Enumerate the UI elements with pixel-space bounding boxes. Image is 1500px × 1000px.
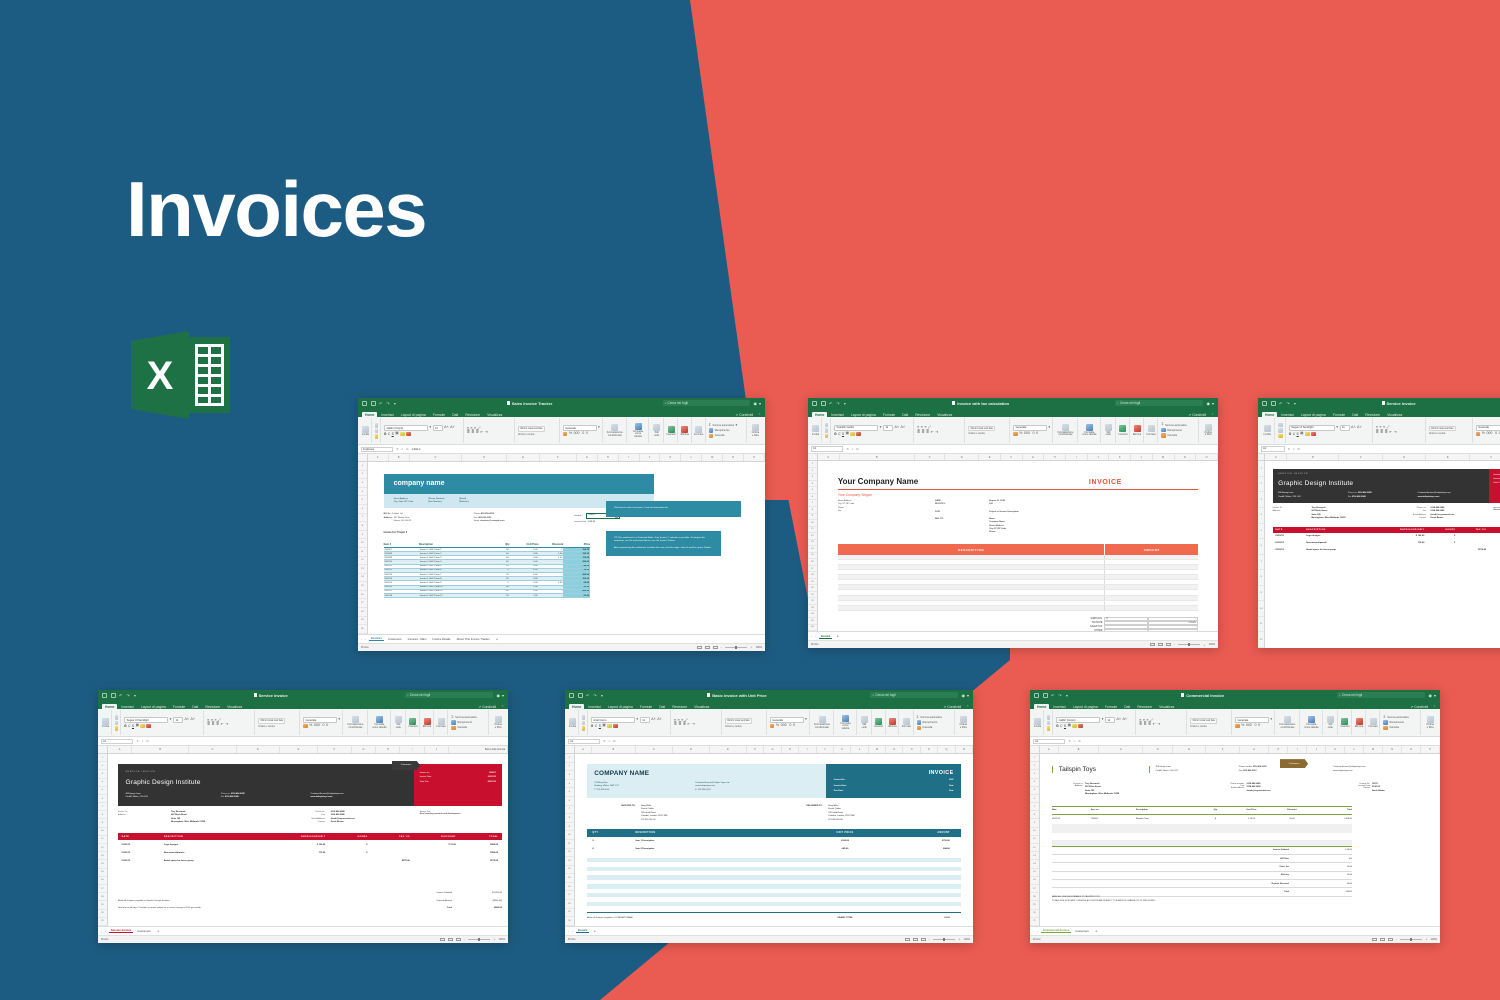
table-row[interactable]: 01/01/13New artwork/panels175.002$350.00 [118, 849, 502, 857]
column-M[interactable]: M [869, 746, 886, 753]
paste-button[interactable]: Incolla [569, 718, 576, 729]
page-layout-icon[interactable] [913, 938, 918, 942]
delete-cells-button-2[interactable]: Elimina [681, 426, 688, 437]
autosum-button[interactable]: Σ Somma automatica [1383, 716, 1418, 720]
sort-filter-button[interactable]: Ordina e filtra [1424, 716, 1436, 729]
insert-cells-button[interactable]: Inserisci [875, 718, 883, 729]
ribbon-group-clipboard[interactable]: Incolla [100, 710, 112, 735]
font-color-icon[interactable] [856, 432, 861, 437]
percent-icon[interactable]: % [1482, 432, 1485, 436]
ribbon-group-format[interactable]: Formato [1367, 710, 1380, 735]
window-service-invoice-bottom[interactable]: ↶ ↷ ▾ Service invoice ⌕ Cerca nei fogli … [98, 690, 508, 943]
column-A[interactable]: A [1265, 454, 1287, 461]
table-body[interactable]: INV007Invoice 1-004-2 Item 1305.001150.0… [384, 548, 591, 598]
comma-icon[interactable]: 000 [1024, 432, 1030, 436]
decrease-decimal-icon[interactable]: 0˙ [326, 724, 329, 728]
clear-button[interactable]: Cancella [1383, 726, 1418, 731]
number-format-select[interactable]: Generale [1235, 717, 1269, 723]
ribbon-group-number[interactable]: Generale ▾ % 000 ˙0 0˙ [1233, 710, 1275, 735]
worksheet-commercial-invoice[interactable]: Tailspin Toys 456 Emmy Lane Cardiff, Wal… [1040, 754, 1440, 926]
formula-bar-buttons[interactable]: ✕ ✓ fx [846, 447, 858, 451]
column-O[interactable]: O [744, 454, 765, 461]
ribbon-group-number[interactable]: Generale ▾ % 000 ˙0 0˙ [768, 710, 810, 735]
ribbon-group-clipboard-small[interactable] [580, 710, 588, 735]
undo-icon[interactable]: ↶ [586, 693, 590, 698]
formula-bar-buttons[interactable]: ✕ ✓ fx [603, 739, 615, 743]
row-header[interactable]: 12 [98, 844, 107, 852]
column-G[interactable]: G [764, 746, 781, 753]
row-header[interactable]: 15 [98, 869, 107, 877]
ribbon-group-clipboard[interactable]: Incolla [567, 710, 579, 735]
table-body[interactable]: 01/01/13Logo designs$ 100.005$ 75.00$425… [108, 840, 508, 865]
chevron-down-icon[interactable]: ▾ [598, 426, 600, 430]
ribbon-group-alignment[interactable]: ≡ ≡ ≡ ⤢ ≣ ≣ ≣ ⇤ ⇥ [915, 418, 965, 443]
row-header[interactable]: 1 [565, 754, 574, 763]
number-format-row[interactable]: Generale ▾ [1476, 425, 1500, 431]
row-header[interactable]: 3 [358, 479, 367, 488]
increase-decimal-icon[interactable]: ˙0 [788, 724, 791, 728]
window-controls[interactable]: ◉ ▾ [1428, 693, 1436, 698]
ribbon-group-alignment[interactable]: ≡ ≡ ≡ ⤢ ≣ ≣ ≣ ⇤ ⇥ [465, 418, 515, 443]
percent-icon[interactable]: % [309, 724, 312, 728]
increase-decimal-icon[interactable]: ˙0 [1494, 432, 1497, 436]
delete-cells-button[interactable]: Elimina [889, 718, 897, 729]
clear-button[interactable]: Cancella [709, 434, 744, 439]
format-as-table-button[interactable]: Formatta come tabella [1081, 424, 1098, 437]
cell-styles-button[interactable]: Stili celle [1326, 716, 1335, 729]
undo-icon[interactable]: ↶ [1279, 401, 1283, 406]
sheet-tab-bar[interactable]: ‹ › Invoices Customers Invoices - Main I… [358, 634, 765, 643]
ribbon[interactable]: Incolla Franklin Gothic ▾ 11 A˄ A˅ G C S… [808, 417, 1218, 445]
column-I[interactable]: I [400, 746, 424, 753]
column-F[interactable]: F [1470, 454, 1500, 461]
increase-decimal-icon[interactable]: ˙0 [1253, 724, 1256, 728]
row-header[interactable]: 17 [565, 891, 574, 900]
align-row-2[interactable]: ≣ ≣ ≣ ⇤ ⇥ [1376, 431, 1423, 435]
comma-icon[interactable]: 000 [1246, 724, 1252, 728]
align-left-icon[interactable]: ≣ [1139, 723, 1142, 727]
format-cells-button[interactable]: Formato [902, 718, 910, 729]
grid[interactable]: 1 2 3 4 5 6 7 8 9 10 11 12 13 14 15 16 1… [358, 462, 765, 634]
sheet-tab-service-invoice[interactable]: Service invoice [109, 928, 133, 933]
ribbon-group-number[interactable]: Generale ▾ % 000 ˙0 0˙ [1474, 418, 1500, 443]
line-items-table[interactable]: Item # Description Qty Unit Price Discou… [384, 543, 591, 598]
row-header[interactable]: 21 [98, 918, 107, 926]
cancel-icon[interactable]: ✕ [603, 739, 606, 743]
column-H[interactable]: H [376, 746, 400, 753]
merge-cells-button[interactable]: Unisci e centra [725, 725, 764, 728]
enter-icon[interactable]: ✓ [1293, 447, 1296, 451]
row-header[interactable]: 6 [1258, 539, 1264, 555]
column-O[interactable]: O [903, 746, 920, 753]
italic-icon[interactable]: C [1293, 432, 1295, 436]
column-F[interactable]: F [1206, 746, 1239, 753]
column-F[interactable]: F [540, 454, 577, 461]
row-header[interactable]: 8 [98, 811, 107, 819]
row-header[interactable]: 10 [1030, 828, 1039, 836]
ribbon-group-font[interactable]: Arial Corpo ▾ 11 A˄ A˅ G C S ▦ [589, 710, 671, 735]
percent-icon[interactable]: % [1019, 432, 1022, 436]
number-format-select[interactable]: Generale [1476, 425, 1500, 431]
column-P[interactable]: P [921, 746, 938, 753]
increase-decimal-icon[interactable]: ˙0 [1031, 432, 1034, 436]
clear-button[interactable]: Cancella [917, 726, 952, 731]
row-header[interactable]: 19 [98, 901, 107, 909]
table-row[interactable]: 01/01/13New artwork/panels175.002$350.00 [1273, 540, 1500, 547]
search-input[interactable]: ⌕ Cerca nei fogli [663, 400, 751, 406]
align-left-icon[interactable]: ≣ [674, 723, 677, 727]
chevron-down-icon[interactable]: ▾ [759, 401, 761, 406]
borders-icon[interactable]: ▦ [846, 432, 849, 436]
chevron-down-icon[interactable]: ▾ [170, 718, 172, 722]
font-color-icon[interactable] [146, 724, 151, 729]
conditional-formatting-button[interactable]: Formattazione condizionale [606, 424, 624, 437]
wrap-text-button[interactable]: Dimmi cosa vuoi fare [1429, 426, 1470, 432]
row-header[interactable]: 13 [98, 852, 107, 860]
row-header[interactable]: 1 [1030, 754, 1039, 762]
format-painter-button[interactable] [115, 726, 118, 731]
row-headers[interactable]: 1234567891011121314151617181920 [565, 754, 575, 926]
merge-cells-button[interactable]: Unisci e centra [1190, 725, 1229, 728]
number-format-row[interactable]: Generale ▾ [770, 717, 807, 723]
align-left-icon[interactable]: ≣ [467, 431, 470, 435]
undo-icon[interactable]: ↶ [379, 401, 383, 406]
sheet-nav-icons[interactable]: ‹ › [568, 929, 574, 933]
table-row[interactable]: 01/01/13Aerial space for focus group$275… [1273, 546, 1500, 553]
row-header[interactable]: 6 [358, 505, 367, 514]
italic-icon[interactable]: C [838, 432, 840, 436]
function-icon[interactable]: fx [1078, 739, 1080, 743]
customize-qat-icon[interactable]: ▾ [844, 401, 847, 406]
decrease-font-icon[interactable]: A˅ [190, 718, 195, 722]
copy-button[interactable] [1047, 721, 1050, 726]
formula-bar-toggle-label[interactable]: Barra della formula [449, 746, 508, 753]
page-layout-icon[interactable] [705, 646, 710, 650]
grid[interactable]: 123456789101112131415161718192021 SERVIC… [98, 754, 508, 926]
comma-icon[interactable]: 000 [1486, 432, 1492, 436]
merge-cells-button[interactable]: Unisci e centra [518, 433, 557, 436]
comma-icon[interactable]: 000 [781, 724, 787, 728]
customize-qat-icon[interactable]: ▾ [394, 401, 397, 406]
name-box[interactable]: A1 [101, 739, 133, 745]
formula-bar[interactable]: A1 ✕ ✓ fx [1030, 737, 1440, 746]
bold-icon[interactable]: G [1056, 724, 1058, 728]
autosave-icon[interactable] [1262, 401, 1267, 406]
row-header[interactable]: 3 [1258, 492, 1264, 508]
row-headers[interactable]: 1 2 3 4 5 6 7 8 9 10 11 12 13 14 15 16 1… [358, 462, 368, 634]
chevron-down-icon[interactable]: ▾ [1434, 693, 1436, 698]
row-headers[interactable]: 123456789101112131415161718192021 [1030, 754, 1040, 926]
format-as-table-button[interactable]: Formatta come tabella [837, 715, 854, 731]
zoom-slider[interactable] [1400, 939, 1422, 940]
format-painter-button[interactable] [582, 726, 585, 731]
normal-view-icon[interactable] [1150, 643, 1155, 647]
cut-button[interactable] [1278, 423, 1283, 428]
table-row[interactable] [838, 606, 1198, 611]
customers-tag-button[interactable]: Customers [1280, 759, 1308, 768]
column-K[interactable]: K [1326, 746, 1345, 753]
align-left-icon[interactable]: ≣ [207, 723, 210, 727]
fill-button[interactable]: Riempimento [451, 720, 486, 725]
zoom-in-icon[interactable]: ＋ [1425, 937, 1428, 941]
decrease-indent-icon[interactable]: ⇤ [687, 723, 690, 727]
enter-icon[interactable]: ✓ [851, 447, 854, 451]
column-K[interactable]: K [660, 454, 681, 461]
font-color-icon[interactable] [1311, 432, 1316, 437]
decrease-indent-icon[interactable]: ⇤ [1153, 723, 1156, 727]
formula-bar[interactable]: A1 ✕ ✓ fx [808, 445, 1218, 454]
row-header[interactable]: 15 [358, 582, 367, 591]
autosave-icon[interactable] [569, 693, 574, 698]
status-right[interactable]: − ＋ 100% [1150, 643, 1215, 647]
ribbon-group-clipboard-small[interactable] [113, 710, 121, 735]
ribbon-group-clipboard[interactable]: Incolla [1032, 710, 1044, 735]
column-E[interactable]: E [1426, 454, 1470, 461]
quick-access-toolbar[interactable]: ↶ ↷ ▾ [569, 693, 603, 698]
cell-styles-button[interactable]: Stili celle [652, 424, 661, 437]
bold-icon[interactable]: G [591, 724, 593, 728]
quick-access-toolbar[interactable]: ↶ ↷ ▾ [812, 401, 846, 406]
save-icon[interactable] [371, 401, 376, 406]
column-R[interactable]: R [956, 746, 973, 753]
row-header[interactable]: 26 [808, 625, 817, 631]
font-color-icon[interactable] [406, 432, 411, 437]
format-as-table-button[interactable]: Formatta come tabella [1303, 716, 1320, 729]
zoom-level[interactable]: 100% [756, 646, 762, 649]
ribbon-group-clipboard-small[interactable] [1276, 418, 1286, 443]
wrap-text-button[interactable]: Dimmi cosa vuoi fare [518, 426, 557, 432]
font-row[interactable]: Franklin Gothic ▾ 11 A˄ A˅ [834, 425, 911, 431]
column-E[interactable]: E [1173, 746, 1206, 753]
column-B[interactable]: B [592, 746, 636, 753]
page-break-icon[interactable] [713, 646, 718, 650]
save-icon[interactable] [1043, 693, 1048, 698]
sort-filter-button[interactable]: Ordina e filtra [1202, 424, 1214, 437]
status-right[interactable]: − ＋ 100% [697, 645, 762, 649]
column-headers[interactable]: ABCDEFGHIJKLMNOPQR [565, 746, 973, 754]
number-buttons-row[interactable]: % 000 ˙0 0˙ [1476, 432, 1500, 437]
ribbon-group-styles[interactable]: Formattazione condizionale [1054, 418, 1078, 443]
row-header[interactable]: 10 [565, 831, 574, 840]
ribbon-group-editing[interactable]: Σ Somma automatica Riempimento Cancella [915, 710, 955, 735]
borders-icon[interactable]: ▦ [1300, 432, 1303, 436]
zoom-in-icon[interactable]: ＋ [493, 937, 496, 941]
autosave-icon[interactable] [812, 401, 817, 406]
column-D[interactable]: D [1383, 454, 1427, 461]
font-size-select[interactable]: 11 [433, 425, 443, 431]
quick-access-toolbar[interactable]: ↶ ↷ ▾ [362, 401, 396, 406]
ribbon-tabs[interactable]: Home Inserisci Layout di pagina Formule … [565, 701, 973, 710]
sheet-tab-customers[interactable]: Customers [386, 637, 404, 641]
conditional-formatting-button[interactable]: Formattazione condizionale [1056, 424, 1075, 437]
align-left-icon[interactable]: ≣ [1376, 431, 1379, 435]
column-O[interactable]: O [1196, 454, 1218, 461]
wrap-text-label[interactable]: Dimmi cosa vuoi fare [1190, 718, 1217, 724]
cut-button[interactable] [1047, 715, 1050, 720]
ribbon-group-editing[interactable]: Σ Somma automatica ▾ Riempimento Cancell… [707, 418, 747, 443]
sheet-tab-about[interactable]: About This Invoice Tracker [455, 637, 492, 641]
format-cells-button[interactable]: Formato [1147, 425, 1155, 436]
column-N[interactable]: N [1175, 454, 1197, 461]
column-J[interactable]: J [817, 746, 834, 753]
column-headers[interactable]: A B C D E F G H I J K L M N O [808, 454, 1218, 462]
ribbon-group-wrap[interactable]: Dimmi cosa vuoi fare Unisci e centra [1427, 418, 1473, 443]
formula-bar-buttons[interactable]: ✕ ✓ fx [1068, 739, 1080, 743]
formula-bar[interactable]: A1 ✕ ✓ fx [565, 737, 973, 746]
conditional-formatting-button[interactable]: Formattazione condizionale [1278, 716, 1297, 729]
font-name-select[interactable]: Arial Corpo [591, 717, 635, 723]
status-right[interactable]: − ＋ 100% [905, 937, 970, 941]
sort-filter-button[interactable]: Ordina e filtra [958, 716, 969, 729]
row-headers[interactable]: 123456789101112 [1258, 461, 1265, 648]
column-B[interactable]: B [840, 454, 916, 461]
grid[interactable]: 1234567891011121314151617181920 COMPANY … [565, 754, 973, 926]
number-format-select[interactable]: Generale [1013, 425, 1047, 431]
account-icon[interactable]: ◉ [1428, 693, 1432, 698]
column-G[interactable]: G [577, 454, 598, 461]
row-header[interactable]: 19 [565, 909, 574, 918]
ribbon-group-sort[interactable]: Ordina e filtra [748, 418, 763, 443]
window-commercial-invoice[interactable]: ↶ ↷ ▾ Commercial Invoice ⌕ Cerca nei fog… [1030, 690, 1440, 943]
row-header[interactable]: 7 [565, 806, 574, 815]
format-as-table-button[interactable]: Formatta come tabella [371, 716, 388, 729]
fill-color-icon[interactable] [850, 432, 855, 437]
row-header[interactable]: 3 [565, 771, 574, 780]
cancel-icon[interactable]: ✕ [396, 447, 399, 451]
sheet-tab-invoice[interactable]: Invoice [576, 928, 590, 933]
copy-button[interactable] [582, 721, 585, 726]
row-headers[interactable]: 123456789101112131415161718192021 [98, 754, 108, 926]
column-D[interactable]: D [237, 746, 280, 753]
column-E[interactable]: E [979, 454, 1001, 461]
row-header[interactable]: 9 [98, 819, 107, 827]
underline-icon[interactable]: S [1064, 724, 1066, 728]
fill-button[interactable]: Riempimento [1383, 720, 1418, 725]
font-row[interactable]: Segoe UI Semilight ▾ 11 A˄ A˅ [1289, 425, 1370, 431]
currency-icon[interactable] [1476, 432, 1481, 437]
increase-font-icon[interactable]: A˄ [1351, 426, 1356, 430]
number-format-select[interactable]: Generale [563, 425, 597, 431]
cancel-icon[interactable]: ✕ [136, 739, 139, 743]
sheet-tab-bar[interactable]: ‹ › Invoice ＋ [808, 631, 1218, 640]
column-A[interactable]: A [368, 454, 389, 461]
ribbon-group-alignment[interactable]: ≡ ≡ ≡ ⤢ ≣ ≣ ≣ ⇤ ⇥ [1137, 710, 1187, 735]
chevron-down-icon[interactable]: ▾ [1212, 401, 1214, 406]
page-break-icon[interactable] [921, 938, 926, 942]
ribbon-group-clipboard-small[interactable] [823, 418, 831, 443]
delete-cells-button[interactable]: Elimina [1355, 718, 1363, 729]
ribbon-tabs[interactable]: Home Inserisci Layout di pagina Formule … [1030, 701, 1440, 710]
ribbon-group-font[interactable]: Calibri (Corpo) ▾ 11 A˄ A˅ G C S ▦ [382, 418, 464, 443]
column-D[interactable]: D [673, 746, 710, 753]
ribbon-group-cells[interactable]: Inserisci [665, 418, 678, 443]
column-I[interactable]: I [619, 454, 640, 461]
ribbon-group-sort[interactable]: Ordina e filtra [956, 710, 971, 735]
underline-icon[interactable]: S [392, 432, 394, 436]
row-header[interactable]: 2 [1030, 762, 1039, 770]
customize-qat-icon[interactable]: ▾ [134, 693, 137, 698]
decrease-font-icon[interactable]: A˅ [1357, 426, 1362, 430]
table-row[interactable]: 8Item 2 Description£45.00£84.00 [587, 845, 961, 853]
font-name-select[interactable]: Calibri (Corpo) [384, 425, 428, 431]
row-header[interactable]: 6 [565, 797, 574, 806]
table-body[interactable]: 9Item 1 Description£180.00£750.008Item 2… [575, 837, 973, 906]
column-L[interactable]: L [1345, 746, 1364, 753]
blank-row-shaded[interactable] [587, 902, 961, 906]
column-G[interactable]: G [1023, 454, 1045, 461]
function-icon[interactable]: fx [1298, 447, 1300, 451]
row-header[interactable]: 12 [1030, 844, 1039, 852]
row-header[interactable]: 20 [358, 625, 367, 634]
name-box[interactable]: A1 [568, 739, 600, 745]
row-header[interactable]: 12 [1258, 632, 1264, 648]
row-header[interactable]: 14 [1030, 860, 1039, 868]
column-N[interactable]: N [886, 746, 903, 753]
column-L[interactable]: L [681, 454, 702, 461]
font-style-row[interactable]: G C S ▦ [591, 724, 668, 729]
zoom-slider[interactable] [1178, 644, 1200, 645]
chevron-down-icon[interactable]: ▾ [1270, 718, 1272, 722]
ribbon-group-wrap[interactable]: Dimmi cosa vuoi fare Unisci e centra [966, 418, 1010, 443]
column-headers[interactable]: A B C D E F G H I J K L M N O [358, 454, 765, 462]
sheet-tab-bar[interactable]: ‹ › Service invoice Customers ＋ [98, 926, 508, 935]
row-header[interactable]: 3 [98, 770, 107, 778]
select-all-corner[interactable] [808, 454, 818, 461]
bold-icon[interactable]: G [1289, 432, 1291, 436]
chevron-down-icon[interactable]: ▾ [880, 426, 882, 430]
font-style-row[interactable]: G C S ▦ [384, 432, 461, 437]
name-box[interactable]: Fogliosca [361, 447, 393, 453]
quick-access-toolbar[interactable]: ↶ ↷ ▾ [1262, 401, 1296, 406]
ribbon-group-alignment[interactable]: ≡ ≡ ≡ ⤢ ≣ ≣ ≣ ⇤ ⇥ [1374, 418, 1426, 443]
sheet-tab-invoice-details[interactable]: Invoice Details [430, 637, 452, 641]
bold-icon[interactable]: G [124, 724, 126, 728]
column-F[interactable]: F [1001, 454, 1023, 461]
format-painter-button[interactable] [1278, 434, 1283, 439]
insert-cells-button[interactable]: Inserisci [1119, 425, 1127, 436]
undo-icon[interactable]: ↶ [829, 401, 833, 406]
underline-icon[interactable]: S [599, 724, 601, 728]
row-header[interactable]: 9 [1258, 586, 1264, 602]
font-name-select[interactable]: Calibri (Corpo) [1056, 717, 1100, 723]
format-painter-button[interactable] [1047, 726, 1050, 731]
wrap-text-button[interactable]: Dimmi cosa vuoi fare [968, 426, 1007, 432]
redo-icon[interactable]: ↷ [836, 401, 840, 406]
ribbon-group-alignment[interactable]: ≡ ≡ ≡ ⤢ ≣ ≣ ≣ ⇤ ⇥ [205, 710, 255, 735]
copy-button[interactable] [115, 721, 118, 726]
row-header[interactable]: 20 [98, 910, 107, 918]
ribbon-group-cell-styles[interactable]: Stili celle [1324, 710, 1338, 735]
row-header[interactable]: 4 [358, 488, 367, 497]
enter-icon[interactable]: ✓ [401, 447, 404, 451]
ribbon-group-font[interactable]: Franklin Gothic ▾ 11 A˄ A˅ G C S ▦ [832, 418, 914, 443]
number-buttons-row[interactable]: % 000 ˙0 0˙ [563, 432, 600, 437]
conditional-formatting-button[interactable]: Formattazione condizionale [346, 716, 365, 729]
copy-button[interactable] [1278, 428, 1283, 433]
column-I[interactable]: I [1066, 454, 1088, 461]
chevron-down-icon[interactable]: ▾ [967, 693, 969, 698]
window-controls[interactable]: ◉ ▾ [961, 693, 969, 698]
wrap-text-button[interactable]: Dimmi cosa vuoi fare [258, 718, 297, 724]
column-J[interactable]: J [425, 746, 449, 753]
font-size-select[interactable]: 11 [1105, 717, 1115, 723]
grid[interactable]: 123456789101112 SERVICE INVOICE Graphic … [1258, 461, 1500, 648]
increase-indent-icon[interactable]: ⇥ [1394, 431, 1397, 435]
wrap-text-label[interactable]: Dimmi cosa vuoi fare [1429, 426, 1456, 432]
chevron-down-icon[interactable]: ▾ [429, 426, 431, 430]
column-D[interactable]: D [945, 454, 979, 461]
comma-icon[interactable]: 000 [314, 724, 320, 728]
